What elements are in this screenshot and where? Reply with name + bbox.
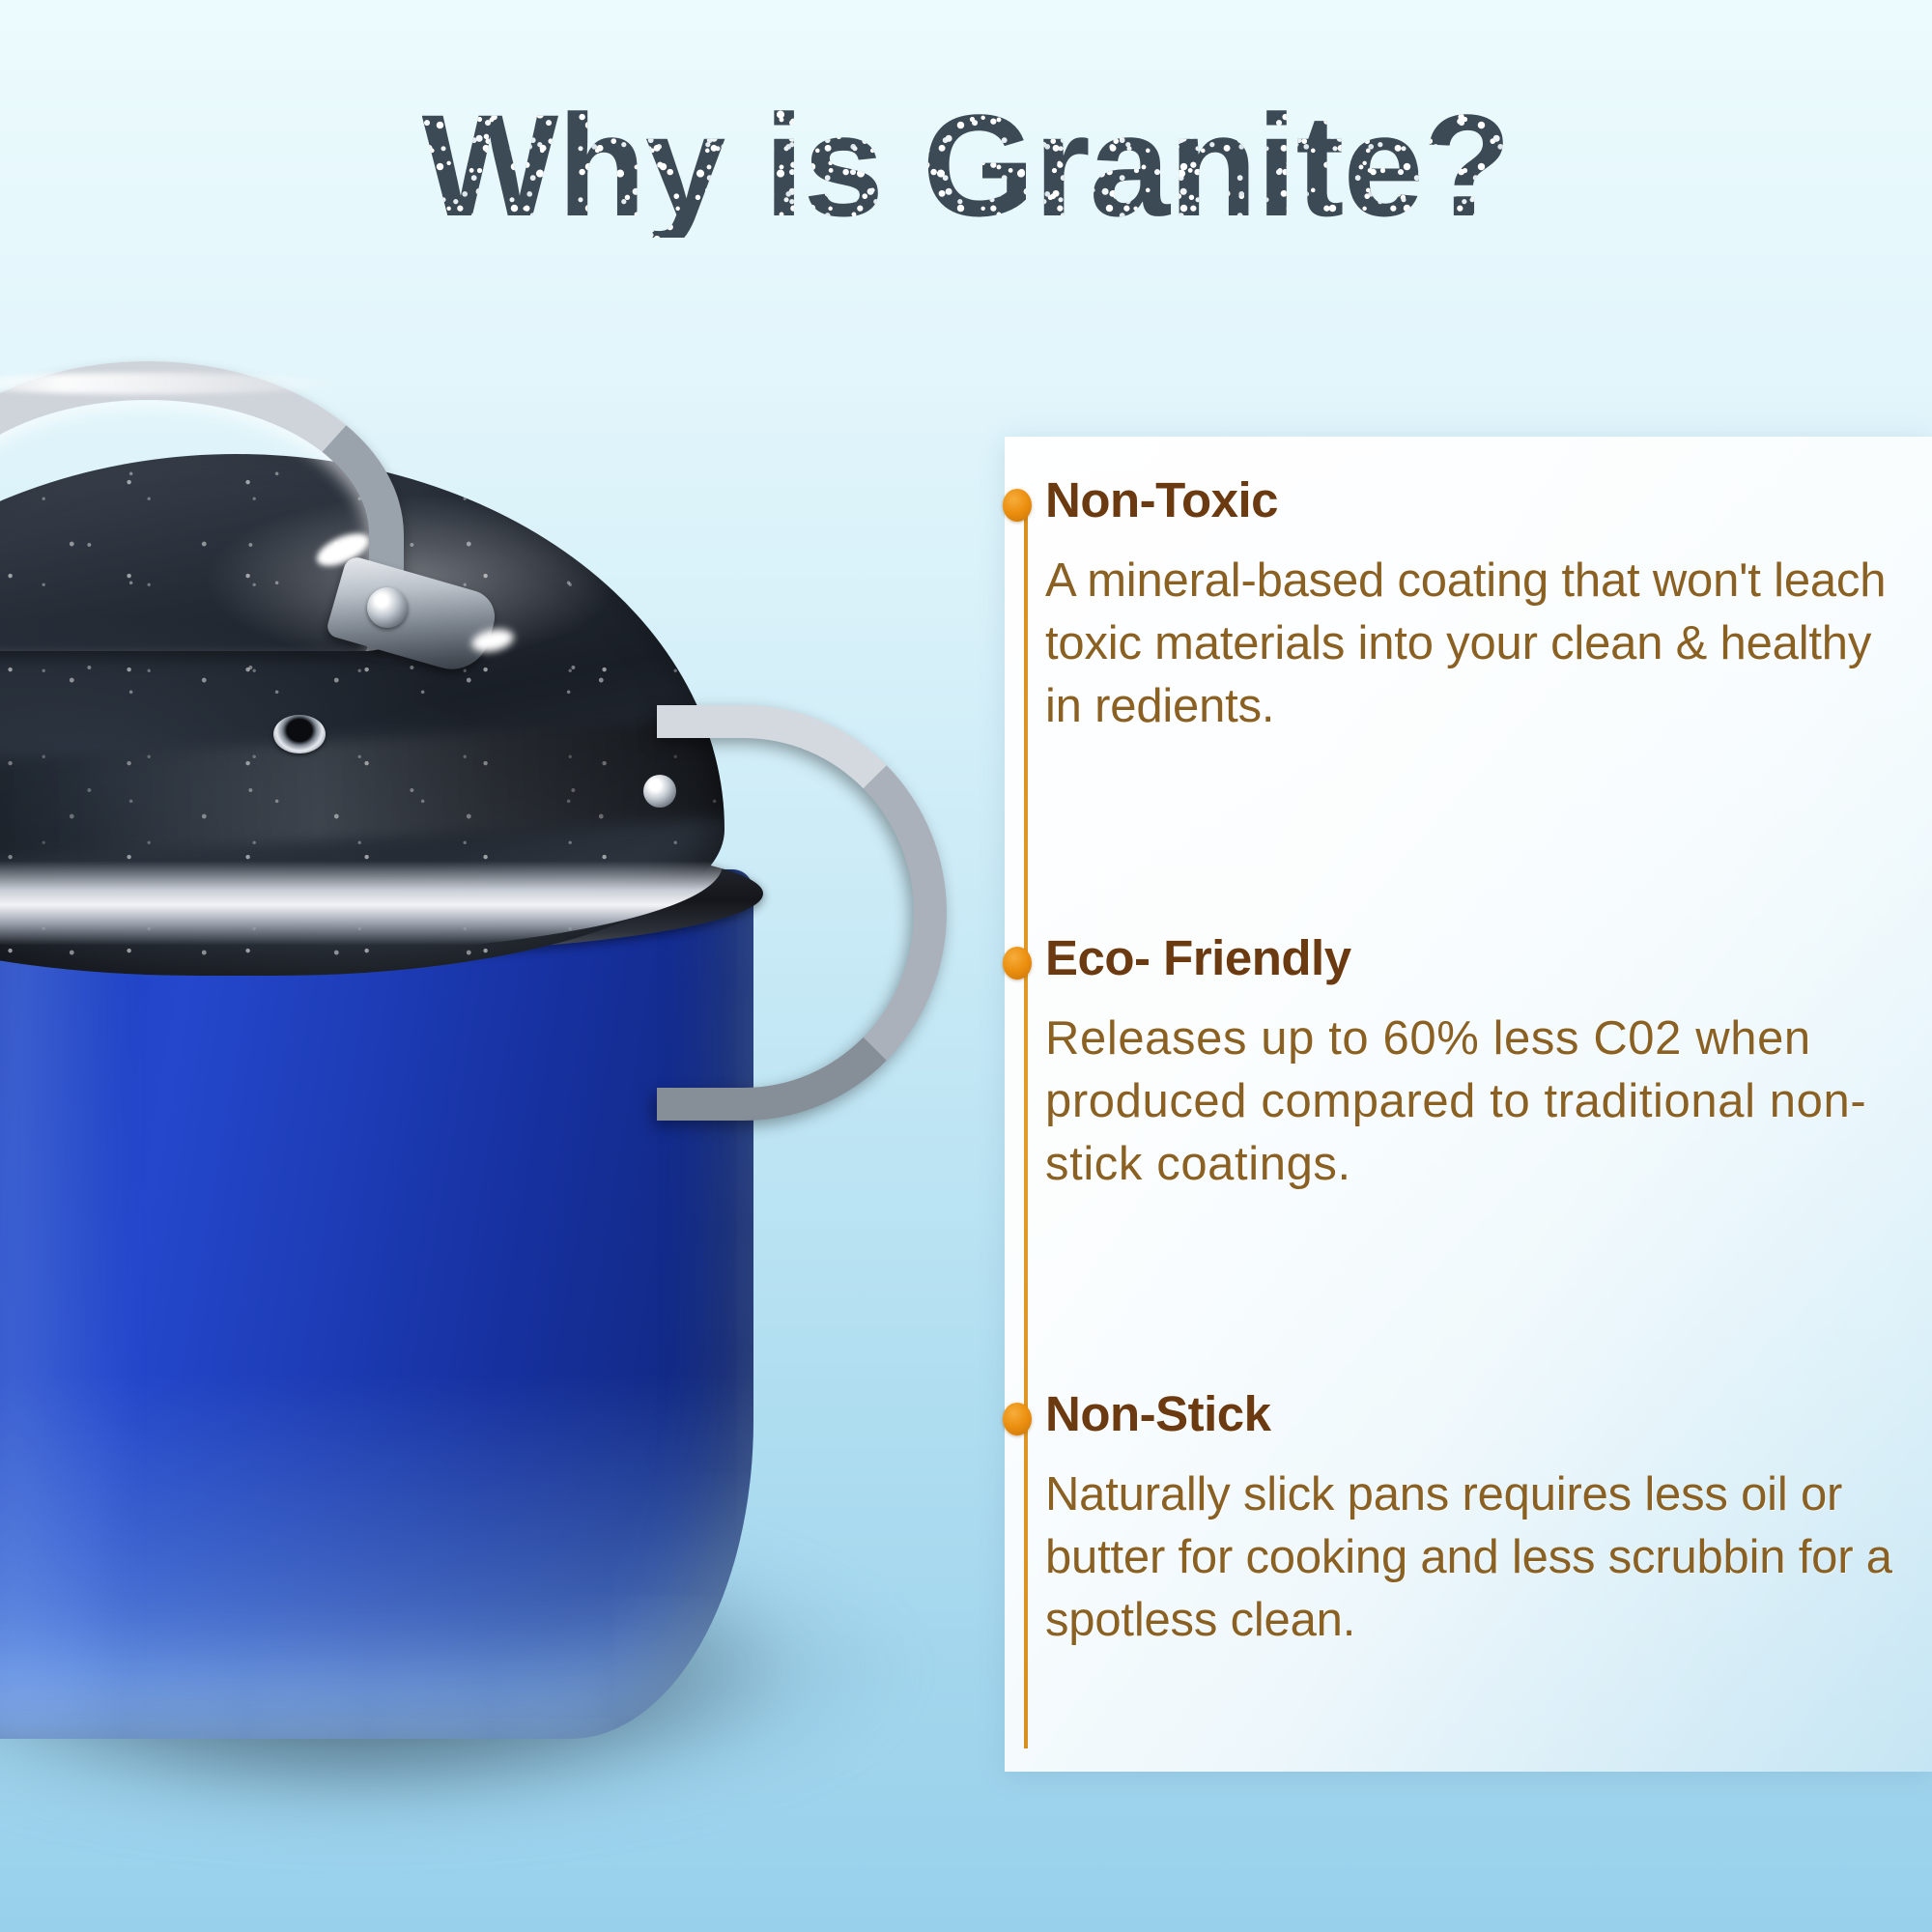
feature-body: A mineral-based coating that won't leach… bbox=[1045, 550, 1895, 738]
bullet-dot-icon bbox=[1003, 1403, 1032, 1435]
page-title: Why is Granite? bbox=[422, 93, 1511, 238]
pot-body bbox=[0, 869, 753, 1739]
feature-item-non-toxic: Non-Toxic A mineral-based coating that w… bbox=[1045, 471, 1932, 738]
product-image bbox=[0, 415, 966, 1835]
feature-heading: Non-Stick bbox=[1045, 1385, 1932, 1442]
feature-item-eco-friendly: Eco- Friendly Releases up to 60% less C0… bbox=[1045, 929, 1932, 1196]
feature-item-non-stick: Non-Stick Naturally slick pans requires … bbox=[1045, 1385, 1932, 1652]
feature-heading: Non-Toxic bbox=[1045, 471, 1932, 528]
steam-vent-icon bbox=[273, 715, 326, 753]
feature-heading: Eco- Friendly bbox=[1045, 929, 1932, 986]
page-title-container: Why is Granite? bbox=[0, 93, 1932, 238]
timeline-rail bbox=[1024, 502, 1028, 1748]
pot-side-handle bbox=[657, 705, 947, 1121]
bullet-dot-icon bbox=[1003, 489, 1032, 522]
lid-knob-rivet bbox=[367, 587, 408, 628]
feature-body: Naturally slick pans requires less oil o… bbox=[1045, 1463, 1895, 1652]
bullet-dot-icon bbox=[1003, 947, 1032, 980]
feature-body: Releases up to 60% less C02 when produce… bbox=[1045, 1008, 1895, 1196]
pot-handle-screw bbox=[643, 775, 676, 808]
